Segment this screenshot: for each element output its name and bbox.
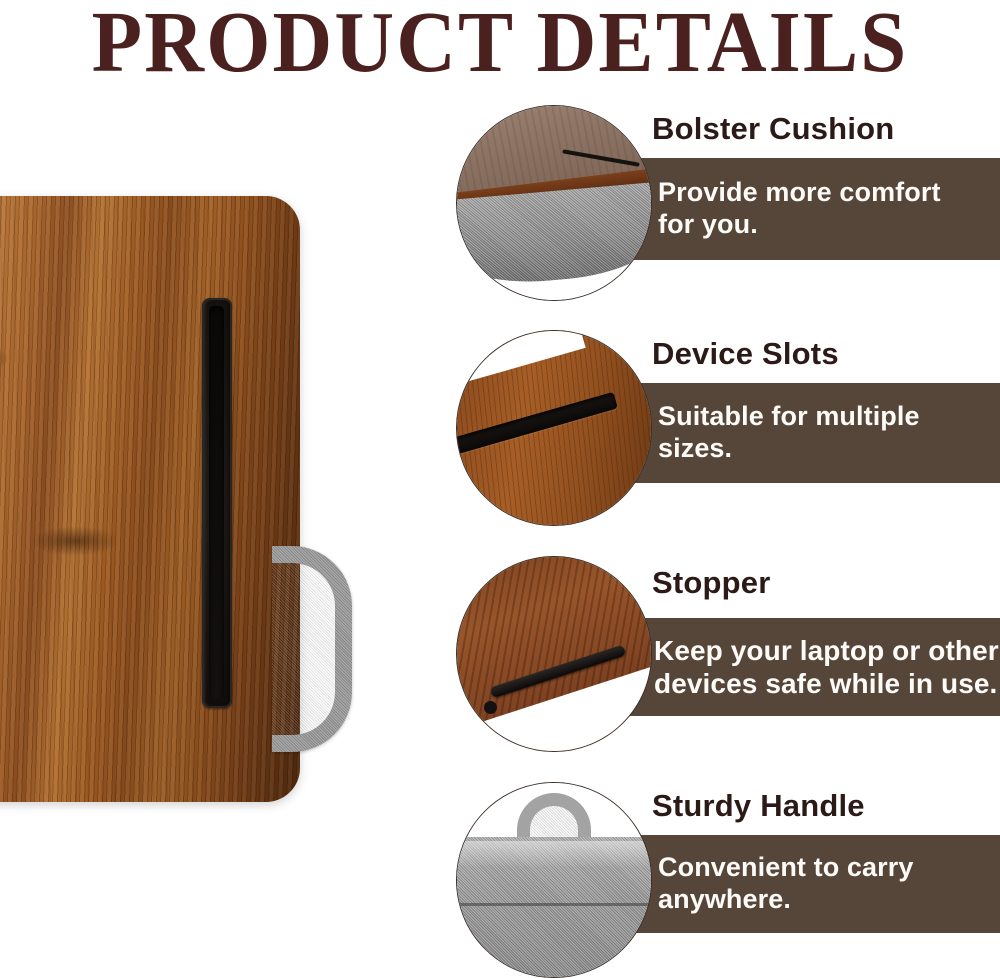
feature-bolster-cushion: Bolster Cushion Provide more comfort for… xyxy=(456,105,1000,305)
photo-white-corner xyxy=(456,330,585,396)
stopper-illustration xyxy=(457,557,651,751)
wood-knot xyxy=(30,526,120,556)
feature-heading: Stopper xyxy=(652,564,771,602)
board-sheen xyxy=(0,196,300,802)
feature-description: Keep your laptop or other devices safe w… xyxy=(654,634,999,700)
feature-stopper: Stopper Keep your laptop or other device… xyxy=(456,556,1000,761)
fabric-handle xyxy=(272,546,352,752)
feature-description: Suitable for multiple sizes. xyxy=(658,401,948,465)
device-slot xyxy=(202,298,232,708)
bolster-cushion-photo xyxy=(456,105,652,301)
wood-board xyxy=(0,196,300,802)
gray-cushion xyxy=(456,182,652,290)
feature-description: Convenient to carry anywhere. xyxy=(658,852,948,916)
stopper-bar-cap xyxy=(484,701,497,714)
bag-seam xyxy=(456,903,652,906)
device-slots-illustration xyxy=(457,331,651,525)
feature-heading: Sturdy Handle xyxy=(652,787,865,825)
title-bar: PRODUCT DETAILS xyxy=(0,0,1000,92)
stopper-photo xyxy=(456,556,652,752)
page-title: PRODUCT DETAILS xyxy=(92,0,909,94)
feature-description: Provide more comfort for you. xyxy=(658,177,958,241)
sturdy-handle-photo xyxy=(456,782,652,978)
feature-heading: Bolster Cushion xyxy=(652,110,894,148)
device-slot-inner xyxy=(209,306,224,700)
feature-device-slots: Device Slots Suitable for multiple sizes… xyxy=(456,330,1000,530)
feature-sturdy-handle: Sturdy Handle Convenient to carry anywhe… xyxy=(456,782,1000,971)
bag-highlight xyxy=(456,841,652,868)
feature-heading: Device Slots xyxy=(652,335,839,373)
product-hero-image xyxy=(0,196,300,802)
slot-groove xyxy=(456,392,619,458)
bolster-cushion-illustration xyxy=(457,106,651,300)
handle-strap xyxy=(272,546,352,752)
sturdy-handle-illustration xyxy=(457,783,651,977)
device-slots-photo xyxy=(456,330,652,526)
